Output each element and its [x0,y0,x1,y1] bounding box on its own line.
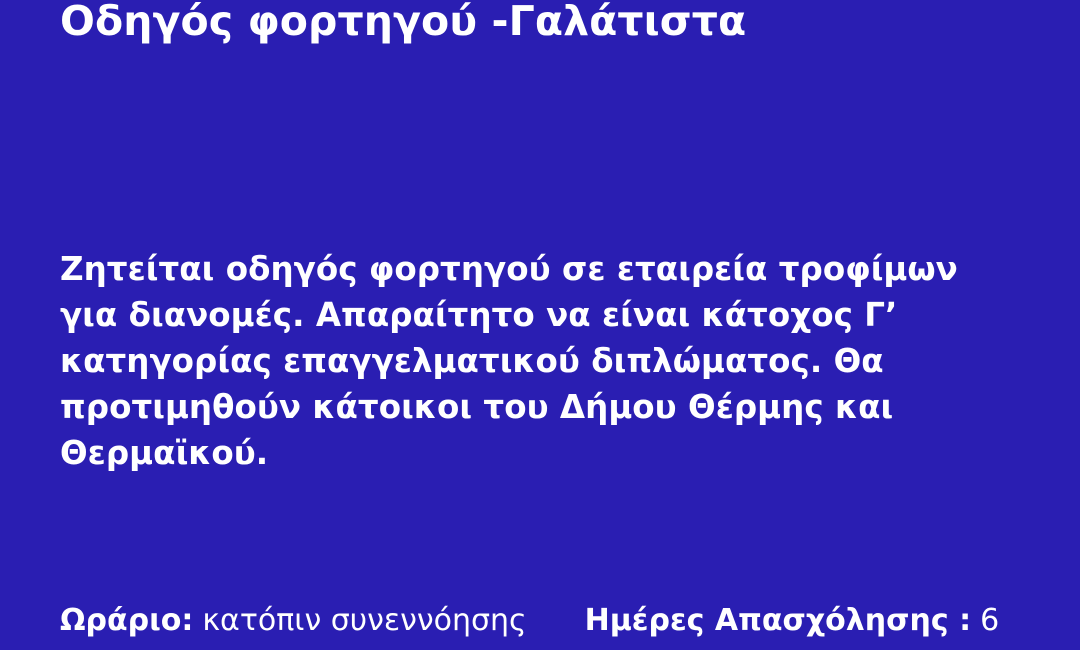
meta-item-workdays: Ημέρες Απασχόλησης : 6 [585,600,1000,642]
meta-item-schedule: Ωράριο: κατόπιν συνεννόησης [60,600,527,642]
schedule-value: κατόπιν συνεννόησης [202,600,526,642]
schedule-label: Ωράριο: [60,600,193,642]
job-meta-row: Ωράριο: κατόπιν συνεννόησης Ημέρες Απασχ… [60,600,1060,642]
job-description: Ζητείται οδηγός φορτηγού σε εταιρεία τρο… [60,246,1020,476]
page-title: Οδηγός φορτηγού -Γαλάτιστα [60,0,1040,46]
job-listing-card: Οδηγός φορτηγού -Γαλάτιστα Ζητείται οδηγ… [0,0,1080,650]
workdays-value: 6 [980,600,999,642]
workdays-label: Ημέρες Απασχόλησης : [585,600,971,642]
